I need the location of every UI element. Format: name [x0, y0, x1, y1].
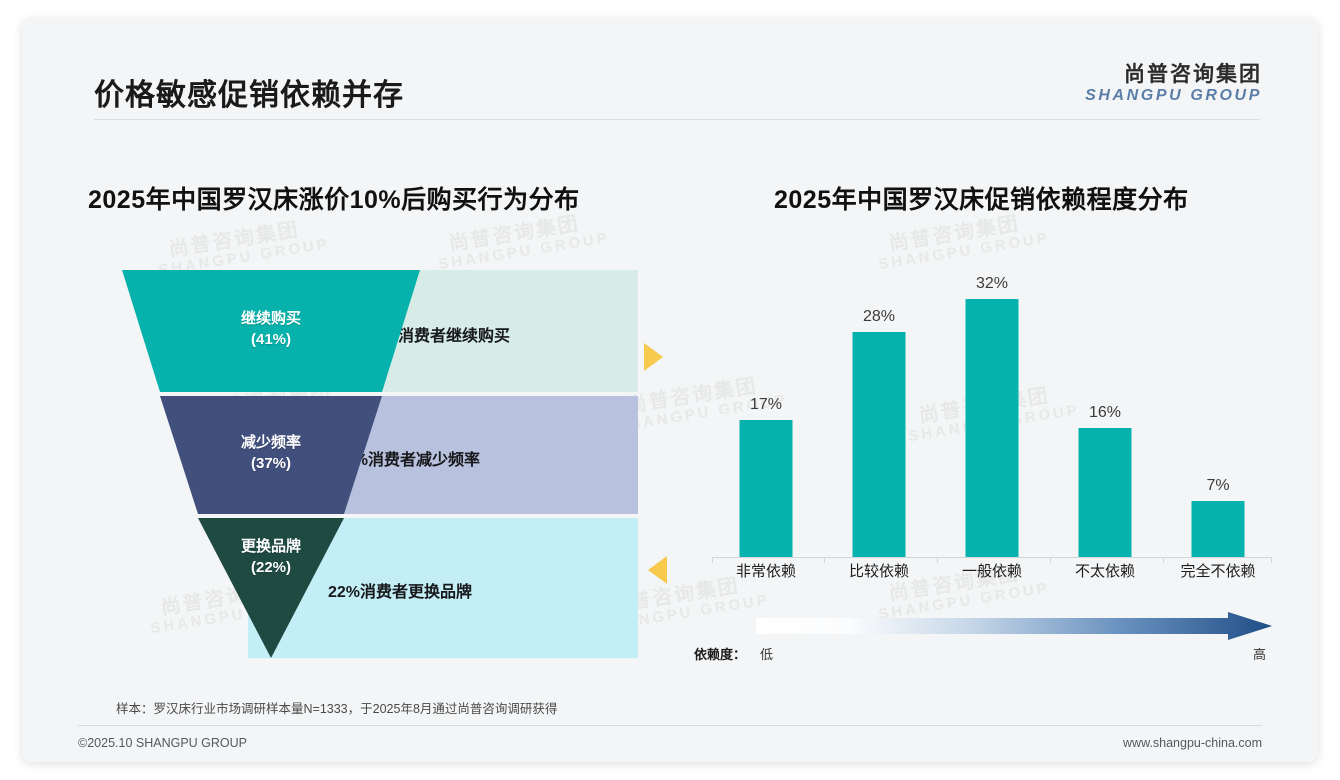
bar-column[interactable]: 17%	[712, 275, 820, 557]
page-title: 价格敏感促销依赖并存	[94, 70, 404, 114]
bar-3[interactable]	[1079, 428, 1132, 557]
header-divider	[94, 119, 1260, 120]
watermark: 尚普咨询集团 SHANGPU GROUP	[420, 210, 611, 276]
bar-4[interactable]	[1192, 501, 1245, 557]
bar-column[interactable]: 7%	[1164, 275, 1272, 557]
funnel-segment-label-2: 减少频率 (37%)	[210, 432, 332, 475]
funnel-segment-label-1: 继续购买 (41%)	[210, 308, 332, 351]
bar-value-1: 28%	[825, 308, 933, 326]
slide-canvas: 尚普咨询集团 SHANGPU GROUP 尚普咨询集团 SHANGPU GROU…	[22, 18, 1318, 762]
legend-low-label: 低	[760, 644, 773, 663]
footer-website[interactable]: www.shangpu-china.com	[1123, 736, 1262, 750]
gradient-arrow-icon	[694, 612, 1274, 644]
watermark-cn: 尚普咨询集团	[140, 216, 328, 266]
footer-divider	[78, 725, 1262, 726]
bar-1[interactable]	[853, 332, 906, 557]
funnel-shapes	[100, 270, 638, 658]
bar-chart-axis	[712, 557, 1272, 558]
funnel-stage-value-2: (37%)	[251, 455, 291, 472]
funnel-stage-value-1: (41%)	[251, 331, 291, 348]
bar-0[interactable]	[740, 420, 793, 557]
funnel-stage-name-2: 减少频率	[241, 434, 301, 451]
funnel-chart: 41%消费者继续购买 37%消费者减少频率 22%消费者更换品牌 继续购买 (4…	[100, 270, 638, 658]
bar-column[interactable]: 28%	[825, 275, 933, 557]
funnel-stage-name-3: 更换品牌	[241, 538, 301, 555]
right-chart-title: 2025年中国罗汉床促销依赖程度分布	[774, 180, 1189, 216]
bar-column[interactable]: 16%	[1051, 275, 1159, 557]
slide-header: 价格敏感促销依赖并存 尚普咨询集团 SHANGPU GROUP	[22, 18, 1318, 114]
brand-logo-cn: 尚普咨询集团	[1085, 63, 1262, 87]
bar-column[interactable]: 32%	[938, 275, 1046, 557]
bar-value-3: 16%	[1051, 404, 1159, 422]
bar-value-2: 32%	[938, 275, 1046, 293]
watermark: 尚普咨询集团 SHANGPU GROUP	[860, 210, 1051, 276]
triangle-right-icon	[644, 343, 663, 371]
legend-high-label: 高	[1253, 644, 1266, 663]
triangle-left-icon	[648, 556, 667, 584]
bar-value-0: 17%	[712, 396, 820, 414]
legend-title: 依赖度：	[694, 644, 746, 663]
bar-value-4: 7%	[1164, 477, 1272, 495]
footer-copyright: ©2025.10 SHANGPU GROUP	[78, 736, 247, 750]
watermark-cn: 尚普咨询集团	[420, 210, 608, 260]
category-label-3: 不太依赖	[1045, 560, 1165, 581]
category-label-0: 非常依赖	[706, 560, 826, 581]
dependency-gradient-legend: 依赖度： 低 高	[694, 612, 1274, 670]
category-label-4: 完全不依赖	[1158, 560, 1278, 581]
bar-chart-category-labels: 非常依赖 比较依赖 一般依赖 不太依赖 完全不依赖	[712, 560, 1272, 586]
category-label-1: 比较依赖	[819, 560, 939, 581]
watermark-en: SHANGPU GROUP	[437, 230, 611, 273]
watermark-en: SHANGPU GROUP	[877, 230, 1051, 273]
bar-2[interactable]	[966, 299, 1019, 557]
bar-chart-plot: 17% 28% 32% 16% 7%	[712, 276, 1272, 558]
left-chart-title: 2025年中国罗汉床涨价10%后购买行为分布	[88, 180, 580, 216]
brand-logo-en: SHANGPU GROUP	[1085, 87, 1262, 105]
sample-note: 样本：罗汉床行业市场调研样本量N=1333，于2025年8月通过尚普咨询调研获得	[116, 698, 557, 717]
funnel-segment-label-3: 更换品牌 (22%)	[210, 536, 332, 579]
funnel-stage-name-1: 继续购买	[241, 310, 301, 327]
funnel-stage-value-3: (22%)	[251, 559, 291, 576]
category-label-2: 一般依赖	[932, 560, 1052, 581]
brand-logo: 尚普咨询集团 SHANGPU GROUP	[1085, 63, 1262, 104]
watermark-cn: 尚普咨询集团	[860, 210, 1048, 260]
